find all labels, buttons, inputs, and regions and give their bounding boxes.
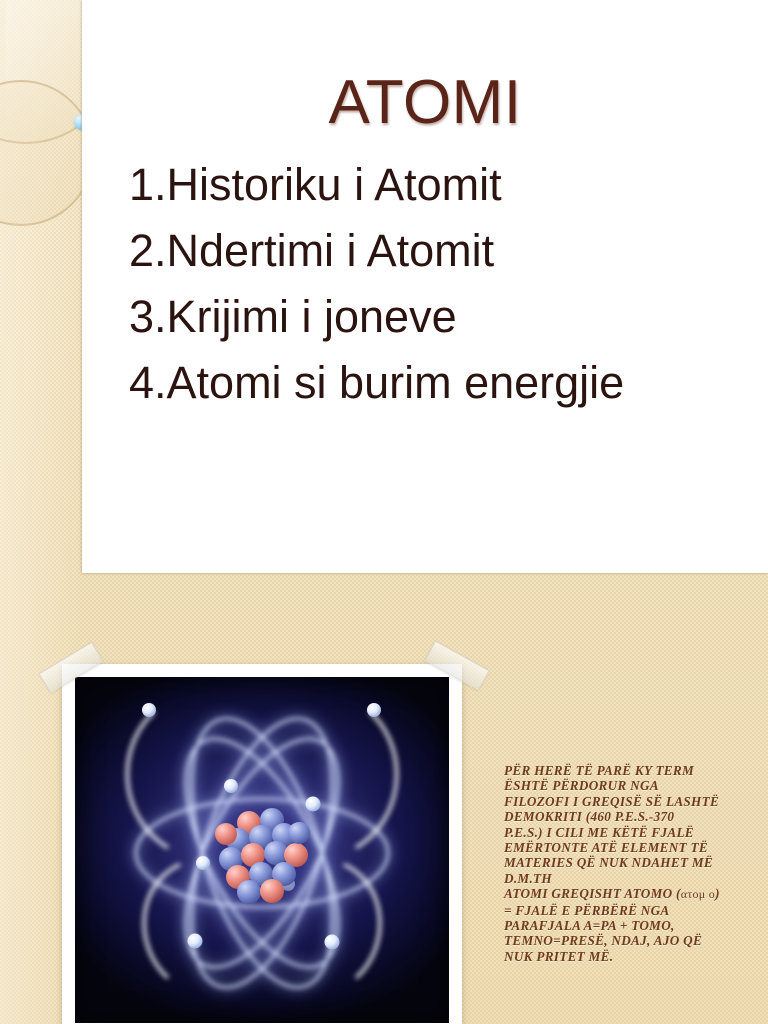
note-line: PËR HERË TË PARË KY TERM (504, 763, 724, 778)
note-line: PARAFJALA A=PA + TOMO, (504, 918, 724, 933)
list-item: 2.Ndertimi i Atomit (129, 218, 768, 284)
presentation-slide: ATOMI 1.Historiku i Atomit 2.Ndertimi i … (0, 0, 768, 1024)
note-paragraph-two: ATOMI GREQISHT ATOMO (ατομ ο) = FJALË E … (504, 886, 724, 918)
note-line: D.M.TH (504, 871, 724, 886)
note-line: MATERIES QË NUK NDAHET MË (504, 855, 724, 870)
note-line: EMËRTONTE ATË ELEMENT TË (504, 840, 724, 855)
note-line: FILOZOFI I GREQISË SË LASHTË (504, 794, 724, 809)
note-line: DEMOKRITI (460 P.E.S.-370 (504, 809, 724, 824)
atom-image (75, 677, 449, 1023)
note-greek-term: ατομ ο (681, 887, 715, 901)
note-atom-etymology-prefix: ATOMI GREQISHT ATOMO ( (504, 886, 681, 901)
page-title: ATOMI (82, 72, 768, 134)
note-line: P.E.S.) I CILI ME KËTË FJALË (504, 825, 724, 840)
atom-photo-container (62, 664, 462, 1024)
list-item: 3.Krijimi i joneve (129, 284, 768, 350)
note-line: ËSHTË PËRDORUR NGA (504, 778, 724, 793)
note-line: NUK PRITET MË. (504, 949, 724, 964)
list-item: 4.Atomi si burim energjie (129, 350, 768, 416)
side-note-text: PËR HERË TË PARË KY TERM ËSHTË PËRDORUR … (504, 763, 724, 964)
photo-frame (62, 664, 462, 1024)
outline-list: 1.Historiku i Atomit 2.Ndertimi i Atomit… (129, 152, 768, 416)
note-line: TEMNO=PRESË, NDAJ, AJO QË (504, 933, 724, 948)
slide-content-panel: ATOMI 1.Historiku i Atomit 2.Ndertimi i … (82, 0, 768, 573)
list-item: 1.Historiku i Atomit (129, 152, 768, 218)
atom-diagram-icon (75, 677, 449, 1023)
